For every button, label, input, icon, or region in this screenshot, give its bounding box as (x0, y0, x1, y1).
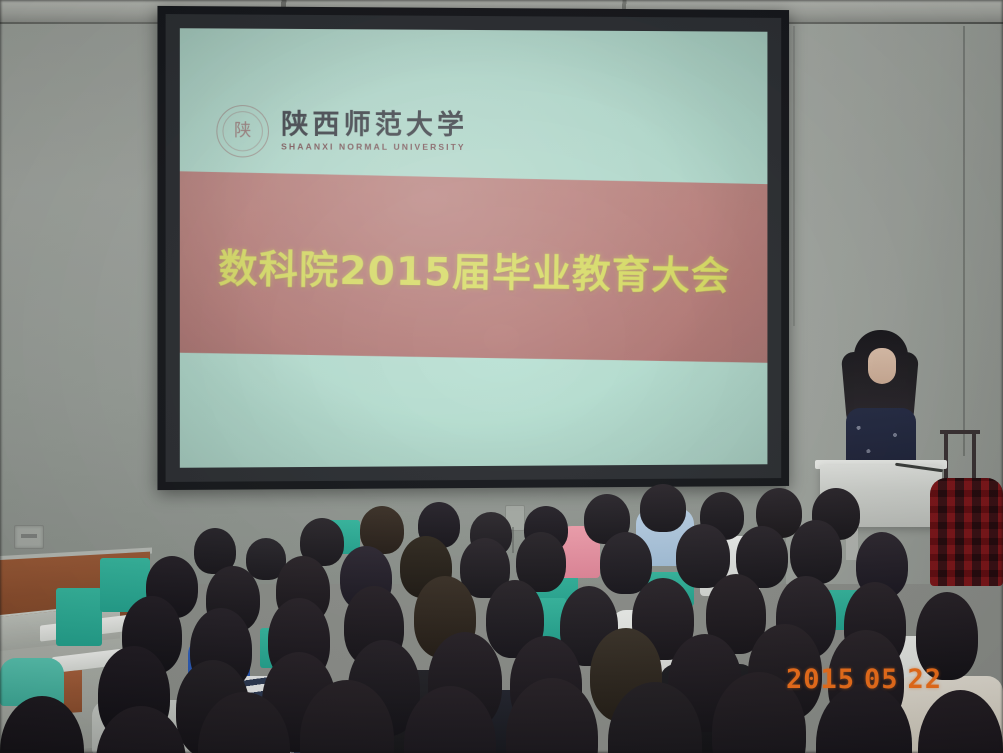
photograph: 陕 陕西师范大学 SHAANXI NORMAL UNIVERSITY 数科院20… (0, 0, 1003, 753)
head-r1-i (640, 484, 686, 532)
audience (0, 440, 1003, 753)
university-name-block: 陕西师范大学 SHAANXI NORMAL UNIVERSITY (281, 111, 468, 152)
university-name-english: SHAANXI NORMAL UNIVERSITY (281, 141, 468, 152)
presenter-face (868, 348, 896, 384)
university-name-chinese: 陕西师范大学 (281, 111, 468, 139)
camera-date-stamp: 20150522 (786, 664, 942, 695)
torso-plaid-shirt (930, 478, 1003, 586)
date-month: 05 (864, 664, 899, 695)
university-logo-lockup: 陕 陕西师范大学 SHAANXI NORMAL UNIVERSITY (216, 105, 468, 158)
seat-left-1 (56, 588, 102, 646)
head-r2-k (790, 520, 842, 584)
presentation-slide: 陕 陕西师范大学 SHAANXI NORMAL UNIVERSITY 数科院20… (180, 28, 768, 468)
slide-title: 数科院2015届毕业教育大会 (180, 237, 768, 302)
wall-corner-left (793, 26, 795, 326)
projection-screen-frame: 陕 陕西师范大学 SHAANXI NORMAL UNIVERSITY 数科院20… (157, 6, 789, 490)
projection-screen-bezel: 陕 陕西师范大学 SHAANXI NORMAL UNIVERSITY 数科院20… (166, 14, 782, 482)
date-day: 22 (908, 664, 943, 695)
university-seal-icon: 陕 (216, 105, 269, 158)
seal-character: 陕 (234, 123, 251, 140)
wall-corner-right (963, 26, 965, 456)
date-year: 2015 (786, 664, 855, 695)
